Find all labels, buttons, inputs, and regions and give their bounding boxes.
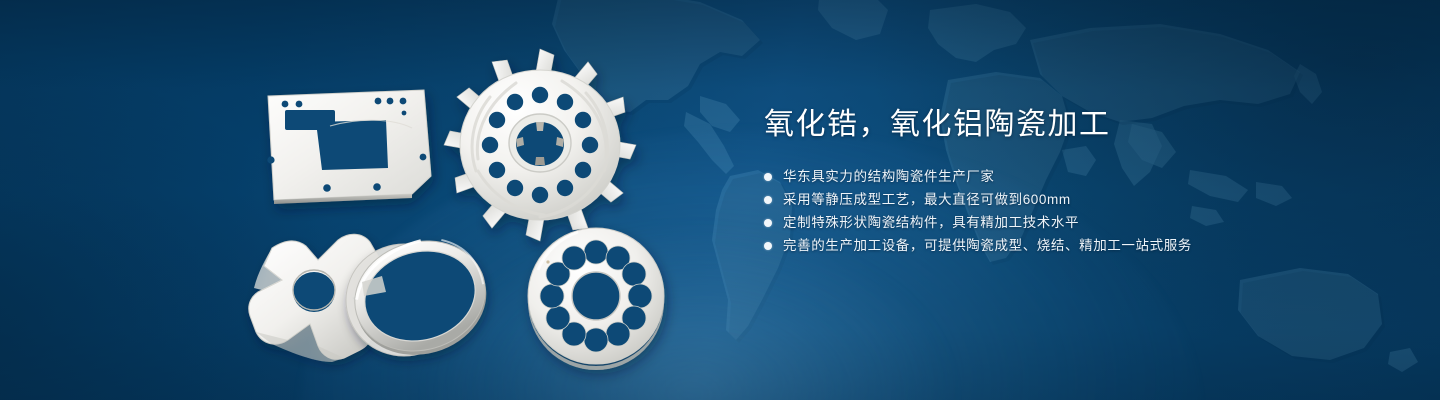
banner-text-block: 氧化锆，氧化铝陶瓷加工 华东具实力的结构陶瓷件生产厂家 采用等静压成型工艺，最大… xyxy=(764,108,1384,257)
feature-label-3: 定制特殊形状陶瓷结构件，具有精加工技术水平 xyxy=(783,211,1079,234)
ceramic-impeller xyxy=(444,49,636,241)
hero-banner: 氧化锆，氧化铝陶瓷加工 华东具实力的结构陶瓷件生产厂家 采用等静压成型工艺，最大… xyxy=(0,0,1440,400)
feature-item-4: 完善的生产加工设备，可提供陶瓷成型、烧结、精加工一站式服务 xyxy=(764,234,1384,257)
bullet-dot-icon xyxy=(764,242,772,250)
feature-item-1: 华东具实力的结构陶瓷件生产厂家 xyxy=(764,165,1384,188)
feature-label-1: 华东具实力的结构陶瓷件生产厂家 xyxy=(783,165,995,188)
banner-feature-list: 华东具实力的结构陶瓷件生产厂家 采用等静压成型工艺，最大直径可做到600mm 定… xyxy=(764,165,1384,257)
feature-label-4: 完善的生产加工设备，可提供陶瓷成型、烧结、精加工一站式服务 xyxy=(783,234,1192,257)
bullet-dot-icon xyxy=(764,173,772,181)
feature-item-3: 定制特殊形状陶瓷结构件，具有精加工技术水平 xyxy=(764,211,1384,234)
ceramic-plate xyxy=(267,90,431,204)
feature-item-2: 采用等静压成型工艺，最大直径可做到600mm xyxy=(764,188,1384,211)
banner-headline: 氧化锆，氧化铝陶瓷加工 xyxy=(764,108,1384,141)
bullet-dot-icon xyxy=(764,196,772,204)
ceramic-perforated-disc xyxy=(528,228,664,370)
feature-label-2: 采用等静压成型工艺，最大直径可做到600mm xyxy=(783,188,1071,211)
bullet-dot-icon xyxy=(764,219,772,227)
